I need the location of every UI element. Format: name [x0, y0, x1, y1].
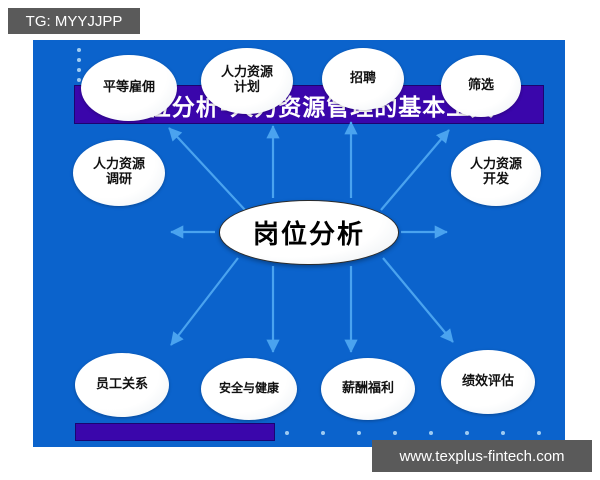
watermark-bottom-right: www.texplus-fintech.com — [372, 440, 592, 472]
center-node-label: 岗位分析 — [253, 214, 365, 251]
node-label-line: 调研 — [93, 173, 145, 188]
slide-bottom-bar — [75, 423, 275, 441]
node-label-line: 开发 — [470, 173, 522, 188]
diagram-node[interactable]: 筛选 — [441, 55, 521, 117]
node-label-line: 人力资源 — [470, 158, 522, 173]
diagram-center-node[interactable]: 岗位分析 — [219, 200, 399, 265]
diagram-node[interactable]: 薪酬福利 — [321, 358, 415, 420]
node-label-line: 薪酬福利 — [342, 382, 394, 397]
diagram-node[interactable]: 平等雇佣 — [81, 55, 177, 121]
watermark-top-left: TG: MYYJJPP — [8, 8, 140, 34]
hub-and-spoke-diagram: 平等雇佣 人力资源 计划 招聘 筛选 人力资源 调研 — [33, 40, 565, 447]
presentation-slide: 岗位分析-人力资源管理的基本工具 — [33, 40, 565, 447]
node-label-line: 招聘 — [350, 72, 376, 87]
diagram-node[interactable]: 人力资源 调研 — [73, 140, 165, 206]
node-label-line: 平等雇佣 — [103, 81, 155, 96]
node-label-line: 计划 — [221, 81, 273, 96]
node-label-line: 人力资源 — [221, 66, 273, 81]
diagram-node[interactable]: 人力资源 开发 — [451, 140, 541, 206]
screenshot-canvas: 岗位分析-人力资源管理的基本工具 — [0, 0, 600, 480]
node-label-line: 筛选 — [468, 79, 494, 94]
node-label-line: 人力资源 — [93, 158, 145, 173]
diagram-node[interactable]: 人力资源 计划 — [201, 48, 293, 114]
node-label-line: 安全与健康 — [219, 382, 279, 395]
diagram-node[interactable]: 员工关系 — [75, 353, 169, 417]
node-label-line: 绩效评估 — [462, 375, 514, 390]
diagram-node[interactable]: 招聘 — [322, 48, 404, 110]
diagram-node[interactable]: 安全与健康 — [201, 358, 297, 420]
node-label-line: 员工关系 — [96, 378, 148, 393]
diagram-node[interactable]: 绩效评估 — [441, 350, 535, 414]
